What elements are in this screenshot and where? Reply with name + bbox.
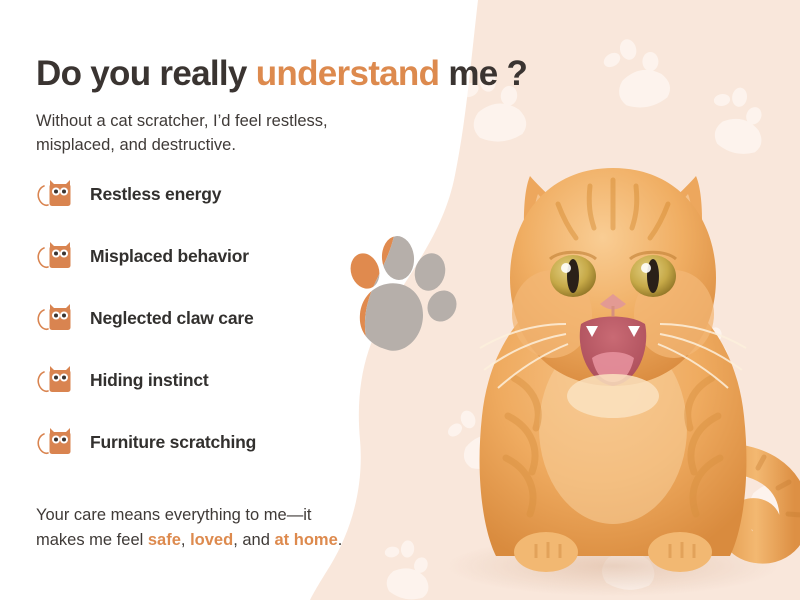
closing-statement: Your care means everything to me—it make… (36, 503, 356, 553)
list-item[interactable]: Restless energy (36, 163, 366, 225)
cat-face-icon (36, 173, 78, 215)
closing-highlight-loved: loved (190, 531, 233, 549)
list-item[interactable]: Hiding instinct (36, 349, 366, 411)
subtitle-line-2: misplaced, and destructive. (36, 136, 236, 154)
closing-segment-4: . (338, 531, 343, 549)
cat-face-icon (36, 421, 78, 463)
cat-face-icon (36, 359, 78, 401)
list-item-label: Misplaced behavior (90, 246, 249, 267)
cat-face-icon (36, 297, 78, 339)
list-item-label: Furniture scratching (90, 432, 256, 453)
subtitle: Without a cat scratcher, I’d feel restle… (36, 109, 366, 159)
list-item[interactable]: Misplaced behavior (36, 225, 366, 287)
content-column: Do you really understand me ? Without a … (0, 0, 400, 600)
title-part-2: me ? (439, 54, 527, 93)
list-item[interactable]: Furniture scratching (36, 411, 366, 473)
ginger-cat-photo (418, 128, 800, 598)
cat-face-icon (36, 235, 78, 277)
closing-highlight-at-home: at home (274, 531, 337, 549)
list-item-label: Hiding instinct (90, 370, 209, 391)
poster-canvas: Do you really understand me ? Without a … (0, 0, 800, 600)
subtitle-line-1: Without a cat scratcher, I’d feel restle… (36, 112, 328, 130)
benefit-list: Restless energy Misplaced behavior (36, 163, 366, 473)
list-item-label: Restless energy (90, 184, 221, 205)
closing-highlight-safe: safe (148, 531, 181, 549)
closing-segment-3: , and (233, 531, 274, 549)
title-part-1: Do you really (36, 54, 256, 93)
page-title: Do you really understand me ? (36, 53, 676, 95)
list-item[interactable]: Neglected claw care (36, 287, 366, 349)
closing-segment-2: , (181, 531, 190, 549)
list-item-label: Neglected claw care (90, 308, 254, 329)
title-accent-word: understand (256, 54, 440, 93)
